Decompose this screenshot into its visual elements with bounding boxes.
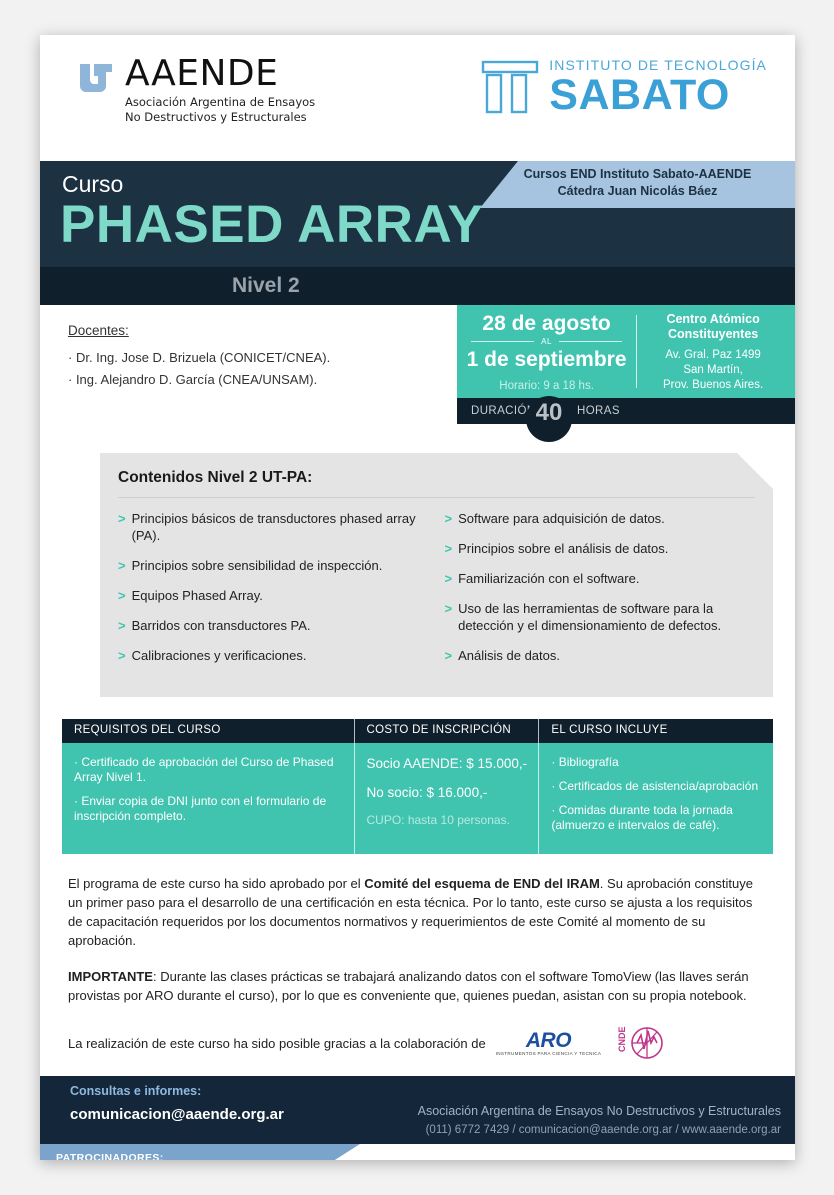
instructors-label: Docentes:: [68, 323, 468, 338]
requisito-item: · Certificado de aprobación del Curso de…: [74, 755, 344, 785]
chevron-right-icon: >: [445, 540, 453, 557]
contact-email[interactable]: comunicacion@aaende.org.ar: [70, 1106, 284, 1123]
instructor-item: · Dr. Ing. Jose D. Brizuela (CONICET/CNE…: [68, 347, 468, 369]
content-item-label: Familiarización con el software.: [458, 570, 639, 587]
contents-panel: Contenidos Nivel 2 UT-PA: > Principios b…: [100, 453, 773, 697]
venue-line1: Centro Atómico: [637, 312, 789, 327]
content-item: > Equipos Phased Array.: [118, 587, 429, 604]
sabato-it-mark-icon: [481, 59, 539, 115]
content-item: > Principios sobre el análisis de datos.: [445, 540, 756, 557]
content-item-label: Análisis de datos.: [458, 647, 560, 664]
chevron-right-icon: >: [118, 557, 126, 574]
level-bar: Nivel 2: [40, 267, 795, 305]
requisitos-cell: · Certificado de aprobación del Curso de…: [62, 743, 354, 854]
course-info-table: REQUISITOS DEL CURSO COSTO DE INSCRIPCIÓ…: [62, 719, 773, 854]
svg-text:CNDE: CNDE: [617, 1026, 627, 1052]
incluye-item: · Bibliografía: [551, 755, 763, 770]
paragraph-importante: IMPORTANTE: Durante las clases prácticas…: [68, 967, 767, 1005]
ribbon-line-1: Cursos END Instituto Sabato-AAENDE: [480, 166, 795, 183]
venue-line2: Constituyentes: [637, 327, 789, 342]
cnde-mark-icon: CNDE: [617, 1022, 667, 1064]
aaende-brand: AAENDE: [125, 55, 315, 93]
header: AAENDE Asociación Argentina de Ensayos N…: [40, 35, 795, 161]
chevron-right-icon: >: [118, 510, 126, 544]
sabato-logo: INSTITUTO DE TECNOLOGÍA SABATO: [481, 57, 767, 117]
date-rule-right: [559, 341, 622, 342]
date-block: 28 de agosto AL 1 de septiembre Horario:…: [457, 305, 636, 398]
sponsors-tab-bar: PATROCINADORES:: [40, 1144, 795, 1160]
footer-contact: Consultas e informes: comunicacion@aaend…: [40, 1076, 795, 1144]
aaende-sub-line2: No Destructivos y Estructurales: [125, 110, 315, 125]
price-no-socio: No socio: $ 16.000,-: [367, 784, 529, 801]
incluye-item: · Comidas durante toda la jornada (almue…: [551, 803, 763, 833]
chevron-right-icon: >: [445, 600, 453, 634]
instructor-item: · Ing. Alejandro D. García (CNEA/UNSAM).: [68, 369, 468, 391]
content-item-label: Principios sobre el análisis de datos.: [458, 540, 668, 557]
content-item-label: Principios básicos de transductores phas…: [132, 510, 429, 544]
content-item: > Principios sobre sensibilidad de inspe…: [118, 557, 429, 574]
sabato-title: SABATO: [549, 73, 767, 117]
column-header-requisitos: REQUISITOS DEL CURSO: [62, 719, 354, 743]
organization-name: Asociación Argentina de Ensayos No Destr…: [418, 1102, 781, 1121]
ribbon-line-2: Cátedra Juan Nicolás Báez: [480, 183, 795, 200]
hours-label: HORAS: [577, 405, 620, 417]
contents-column-right: > Software para adquisición de datos. > …: [445, 510, 756, 677]
patrocinadores-tab: PATROCINADORES:: [40, 1144, 360, 1160]
date-rule-left: [471, 341, 534, 342]
incluye-item: · Certificados de asistencia/aprobación: [551, 779, 763, 794]
content-item: > Uso de las herramientas de software pa…: [445, 600, 756, 634]
contents-column-left: > Principios básicos de transductores ph…: [118, 510, 429, 677]
incluye-cell: · Bibliografía · Certificados de asisten…: [538, 743, 773, 854]
content-item: > Análisis de datos.: [445, 647, 756, 664]
content-item: > Familiarización con el software.: [445, 570, 756, 587]
location-block: Centro Atómico Constituyentes Av. Gral. …: [637, 305, 795, 398]
instructors-and-date-section: Docentes: · Dr. Ing. Jose D. Brizuela (C…: [40, 305, 795, 453]
p2-after: : Durante las clases prácticas se trabaj…: [68, 969, 749, 1003]
content-item-label: Calibraciones y verificaciones.: [132, 647, 307, 664]
content-item-label: Barridos con transductores PA.: [132, 617, 311, 634]
duration-bar: DURACIÓN 40 HORAS: [457, 398, 795, 424]
body-paragraphs: El programa de este curso ha sido aproba…: [68, 874, 767, 1064]
costo-cell: Socio AAENDE: $ 15.000,- No socio: $ 16.…: [354, 743, 539, 854]
requisito-item: · Enviar copia de DNI junto con el formu…: [74, 794, 344, 824]
address-line3: Prov. Buenos Aires.: [637, 378, 789, 393]
chevron-right-icon: >: [118, 587, 126, 604]
flyer-page: AAENDE Asociación Argentina de Ensayos N…: [40, 35, 795, 1160]
course-level: Nivel 2: [232, 274, 300, 298]
content-item-label: Uso de las herramientas de software para…: [458, 600, 755, 634]
aaende-mark-icon: [76, 58, 116, 98]
aro-logo-tagline: INSTRUMENTOS PARA CIENCIA Y TECNICA: [496, 1051, 602, 1056]
column-header-incluye: EL CURSO INCLUYE: [538, 719, 773, 743]
chevron-right-icon: >: [118, 617, 126, 634]
price-socio: Socio AAENDE: $ 15.000,-: [367, 755, 529, 772]
content-item: > Software para adquisición de datos.: [445, 510, 756, 527]
content-item-label: Principios sobre sensibilidad de inspecc…: [132, 557, 383, 574]
aro-logo-name: ARO: [526, 1029, 571, 1052]
title-banner: Cursos END Instituto Sabato-AAENDE Cáted…: [40, 161, 795, 267]
aro-logo: ARO INSTRUMENTOS PARA CIENCIA Y TECNICA: [496, 1030, 602, 1056]
collab-text: La realización de este curso ha sido pos…: [68, 1036, 486, 1051]
paragraph-iram: El programa de este curso ha sido aproba…: [68, 874, 767, 950]
chevron-right-icon: >: [445, 647, 453, 664]
collaboration-line: La realización de este curso ha sido pos…: [68, 1022, 767, 1064]
content-item: > Calibraciones y verificaciones.: [118, 647, 429, 664]
schedule-text: Horario: 9 a 18 hs.: [457, 380, 636, 392]
chevron-right-icon: >: [445, 510, 453, 527]
chevron-right-icon: >: [118, 647, 126, 664]
date-location-box: 28 de agosto AL 1 de septiembre Horario:…: [457, 305, 795, 424]
cupo-note: CUPO: hasta 10 personas.: [367, 813, 529, 827]
content-item-label: Equipos Phased Array.: [132, 587, 263, 604]
date-al-label: AL: [541, 337, 552, 346]
patrocinadores-label: PATROCINADORES:: [56, 1152, 164, 1160]
consultas-label: Consultas e informes:: [70, 1084, 284, 1098]
p2-bold: IMPORTANTE: [68, 969, 153, 984]
instructors-block: Docentes: · Dr. Ing. Jose D. Brizuela (C…: [68, 323, 468, 391]
contents-heading: Contenidos Nivel 2 UT-PA:: [118, 469, 755, 498]
address-line2: San Martín,: [637, 363, 789, 378]
column-header-costo: COSTO DE INSCRIPCIÓN: [354, 719, 539, 743]
content-item-label: Software para adquisición de datos.: [458, 510, 665, 527]
chevron-right-icon: >: [445, 570, 453, 587]
p1-before: El programa de este curso ha sido aproba…: [68, 876, 364, 891]
duration-value-badge: 40: [526, 396, 572, 442]
course-ribbon: Cursos END Instituto Sabato-AAENDE Cáted…: [480, 161, 795, 208]
aaende-logo: AAENDE Asociación Argentina de Ensayos N…: [76, 55, 315, 125]
content-item: > Barridos con transductores PA.: [118, 617, 429, 634]
cnde-logo: CNDE: [617, 1022, 667, 1064]
date-end: 1 de septiembre: [457, 347, 636, 372]
contact-details[interactable]: (011) 6772 7429 / comunicacion@aaende.or…: [418, 1121, 781, 1139]
aaende-sub-line1: Asociación Argentina de Ensayos: [125, 95, 315, 110]
date-start: 28 de agosto: [457, 311, 636, 336]
address-line1: Av. Gral. Paz 1499: [637, 348, 789, 363]
content-item: > Principios básicos de transductores ph…: [118, 510, 429, 544]
p1-bold: Comité del esquema de END del IRAM: [364, 876, 600, 891]
course-title: PHASED ARRAY: [60, 194, 483, 256]
